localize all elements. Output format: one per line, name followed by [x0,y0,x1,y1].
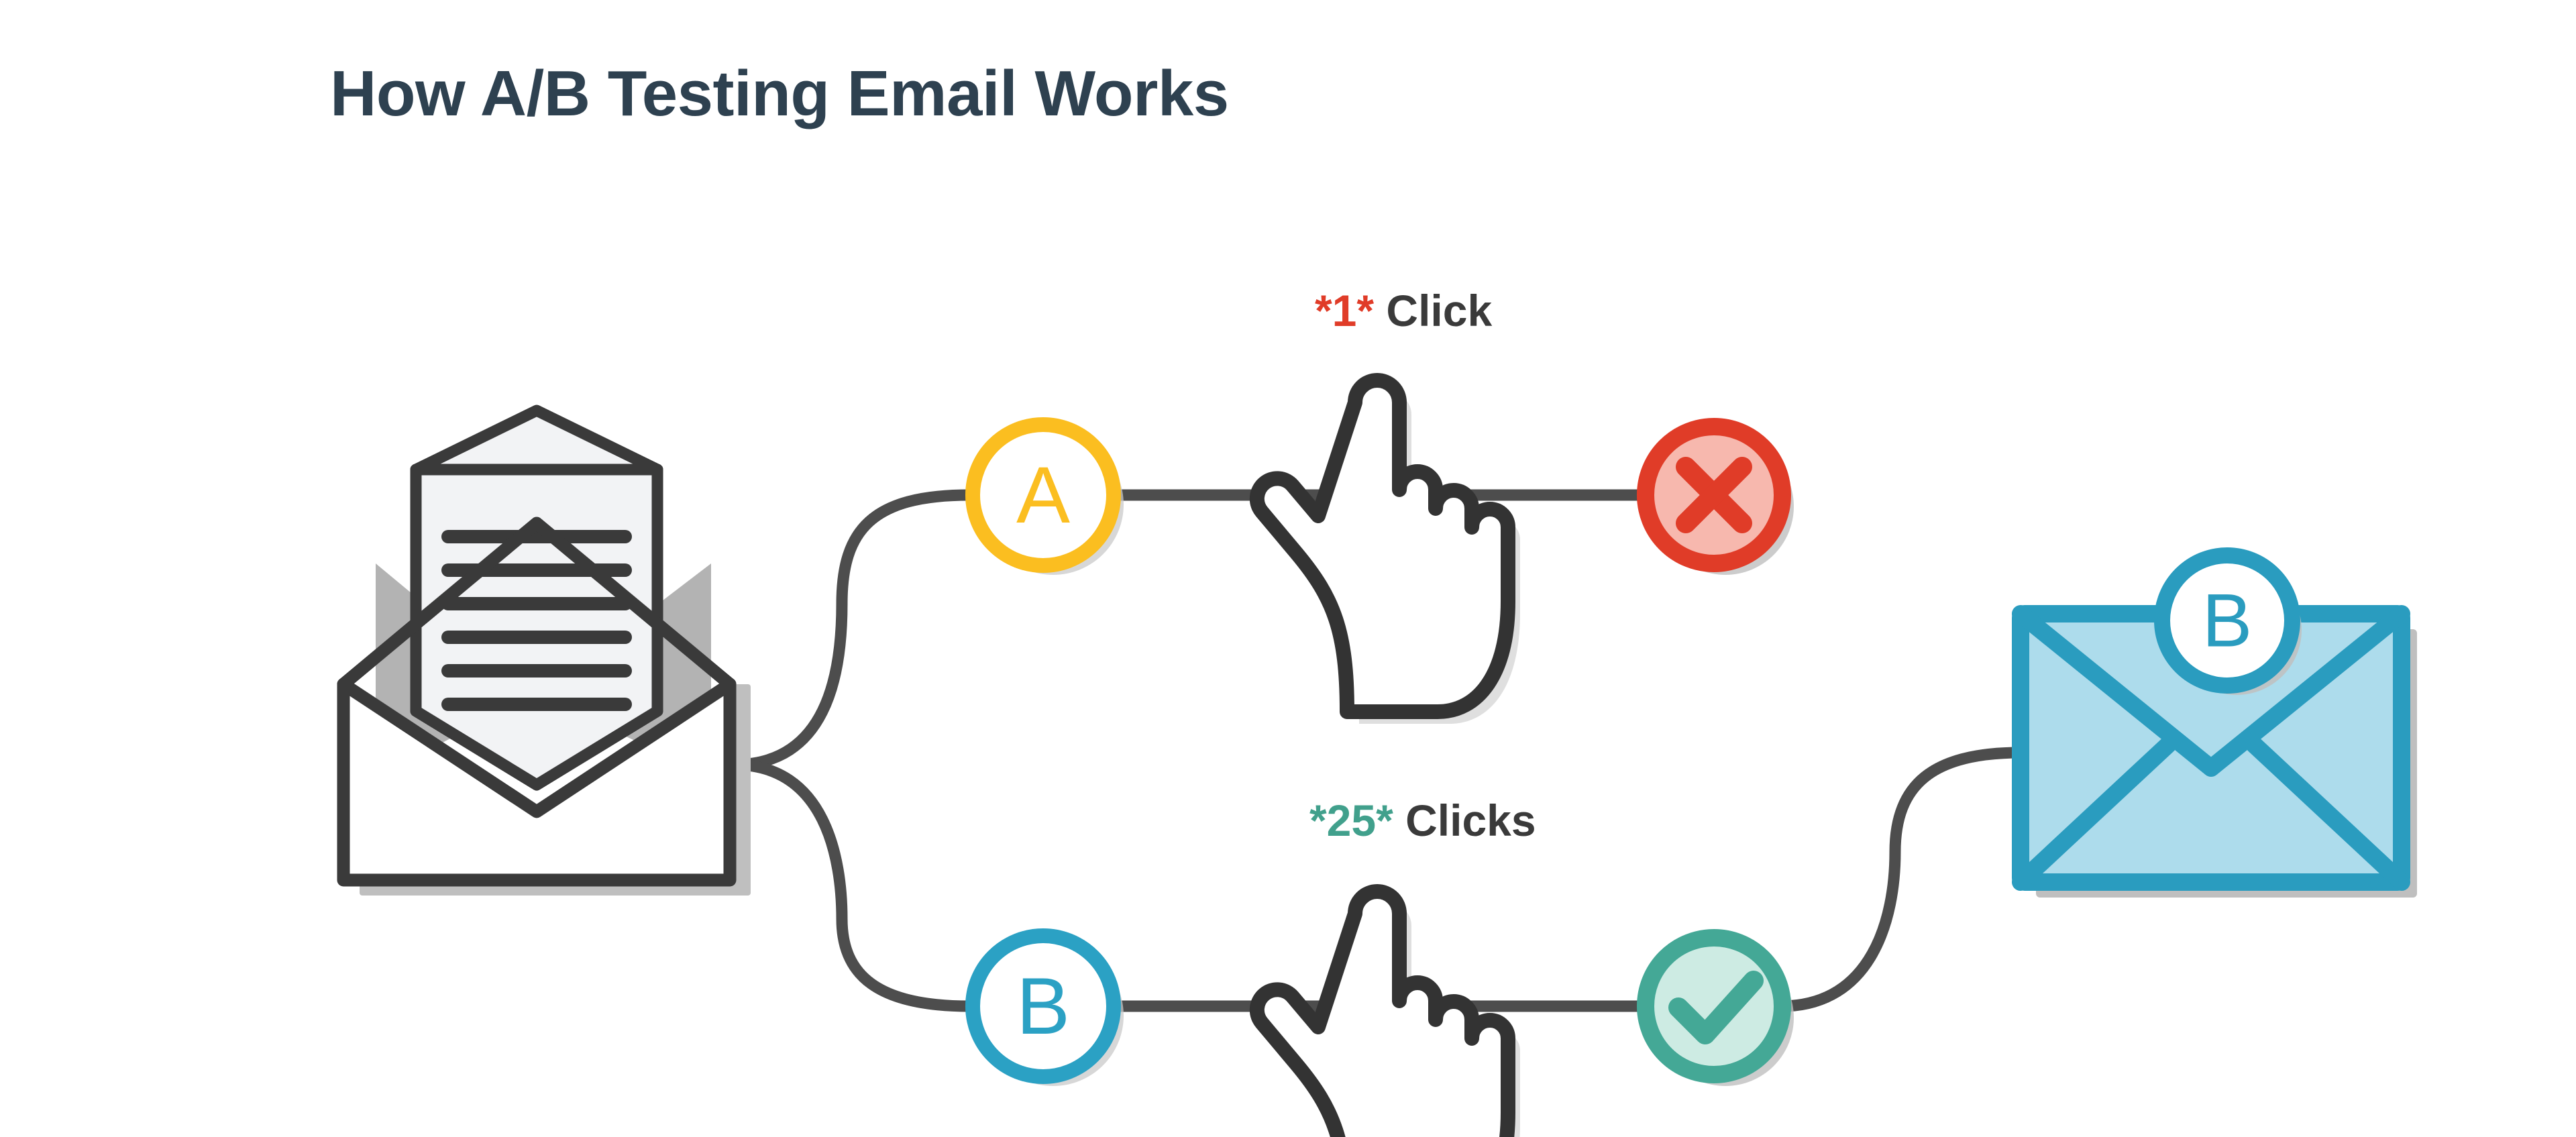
source-email-icon [343,411,751,896]
variant-b-badge[interactable]: B [973,936,1124,1086]
winner-email-icon: B [2021,555,2417,898]
letter-body [416,470,657,785]
variant-a-click-word: Click [1386,286,1492,335]
variant-a-badge-label: A [1016,450,1070,540]
variant-a-click-label: *1* Click [1315,288,1492,333]
winner-variant-badge-label: B [2202,579,2253,663]
diagram-page: How A/B Testing Email Works [0,0,2576,1137]
variant-a-badge[interactable]: A [973,425,1124,575]
ab-testing-flow-diagram: A B [0,0,2576,1137]
check-icon[interactable] [1646,938,1794,1086]
connector-envelope-to-b [735,765,969,1006]
cross-icon[interactable] [1646,427,1794,575]
variant-a-click-count: *1* [1315,286,1374,335]
pointing-hand-cursor-a [1257,380,1520,724]
variant-b-click-label: *25* Clicks [1309,798,1536,843]
winner-variant-badge[interactable]: B [2162,555,2302,695]
flow-diagram-svg: A B [0,0,2576,1137]
connector-success-to-winner [1781,753,2021,1006]
variant-b-badge-label: B [1016,961,1070,1051]
pointing-hand-cursor-b [1257,891,1520,1137]
variant-b-click-count: *25* [1309,796,1393,845]
variant-b-click-word: Clicks [1405,796,1536,845]
connector-envelope-to-a [735,495,969,765]
